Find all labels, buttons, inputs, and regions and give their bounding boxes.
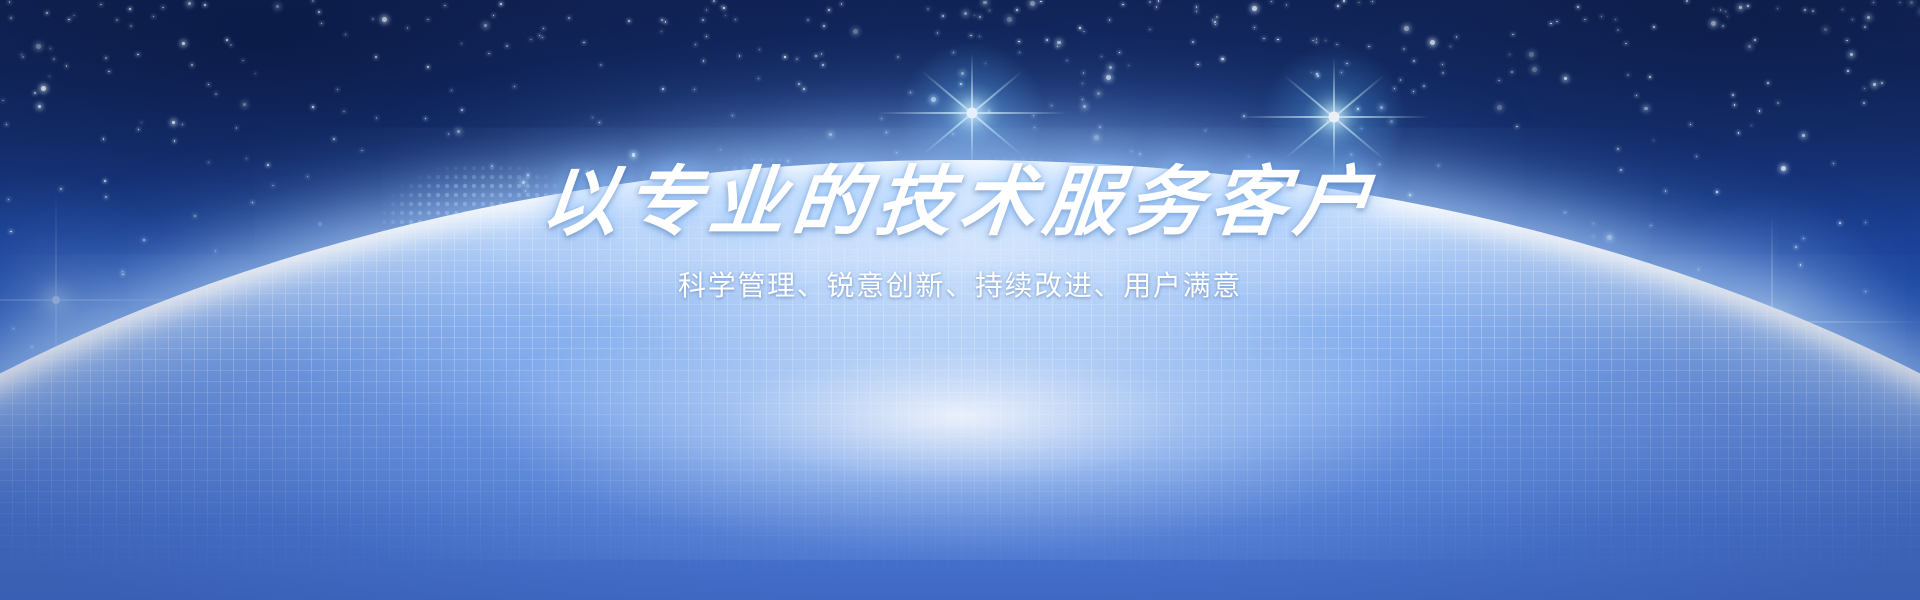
banner-content: 以专业的技术服务客户 科学管理、锐意创新、持续改进、用户满意 [0, 0, 1920, 304]
hero-banner: 以专业的技术服务客户 科学管理、锐意创新、持续改进、用户满意 [0, 0, 1920, 600]
banner-subtitle: 科学管理、锐意创新、持续改进、用户满意 [0, 264, 1920, 304]
banner-headline: 以专业的技术服务客户 [0, 162, 1920, 242]
